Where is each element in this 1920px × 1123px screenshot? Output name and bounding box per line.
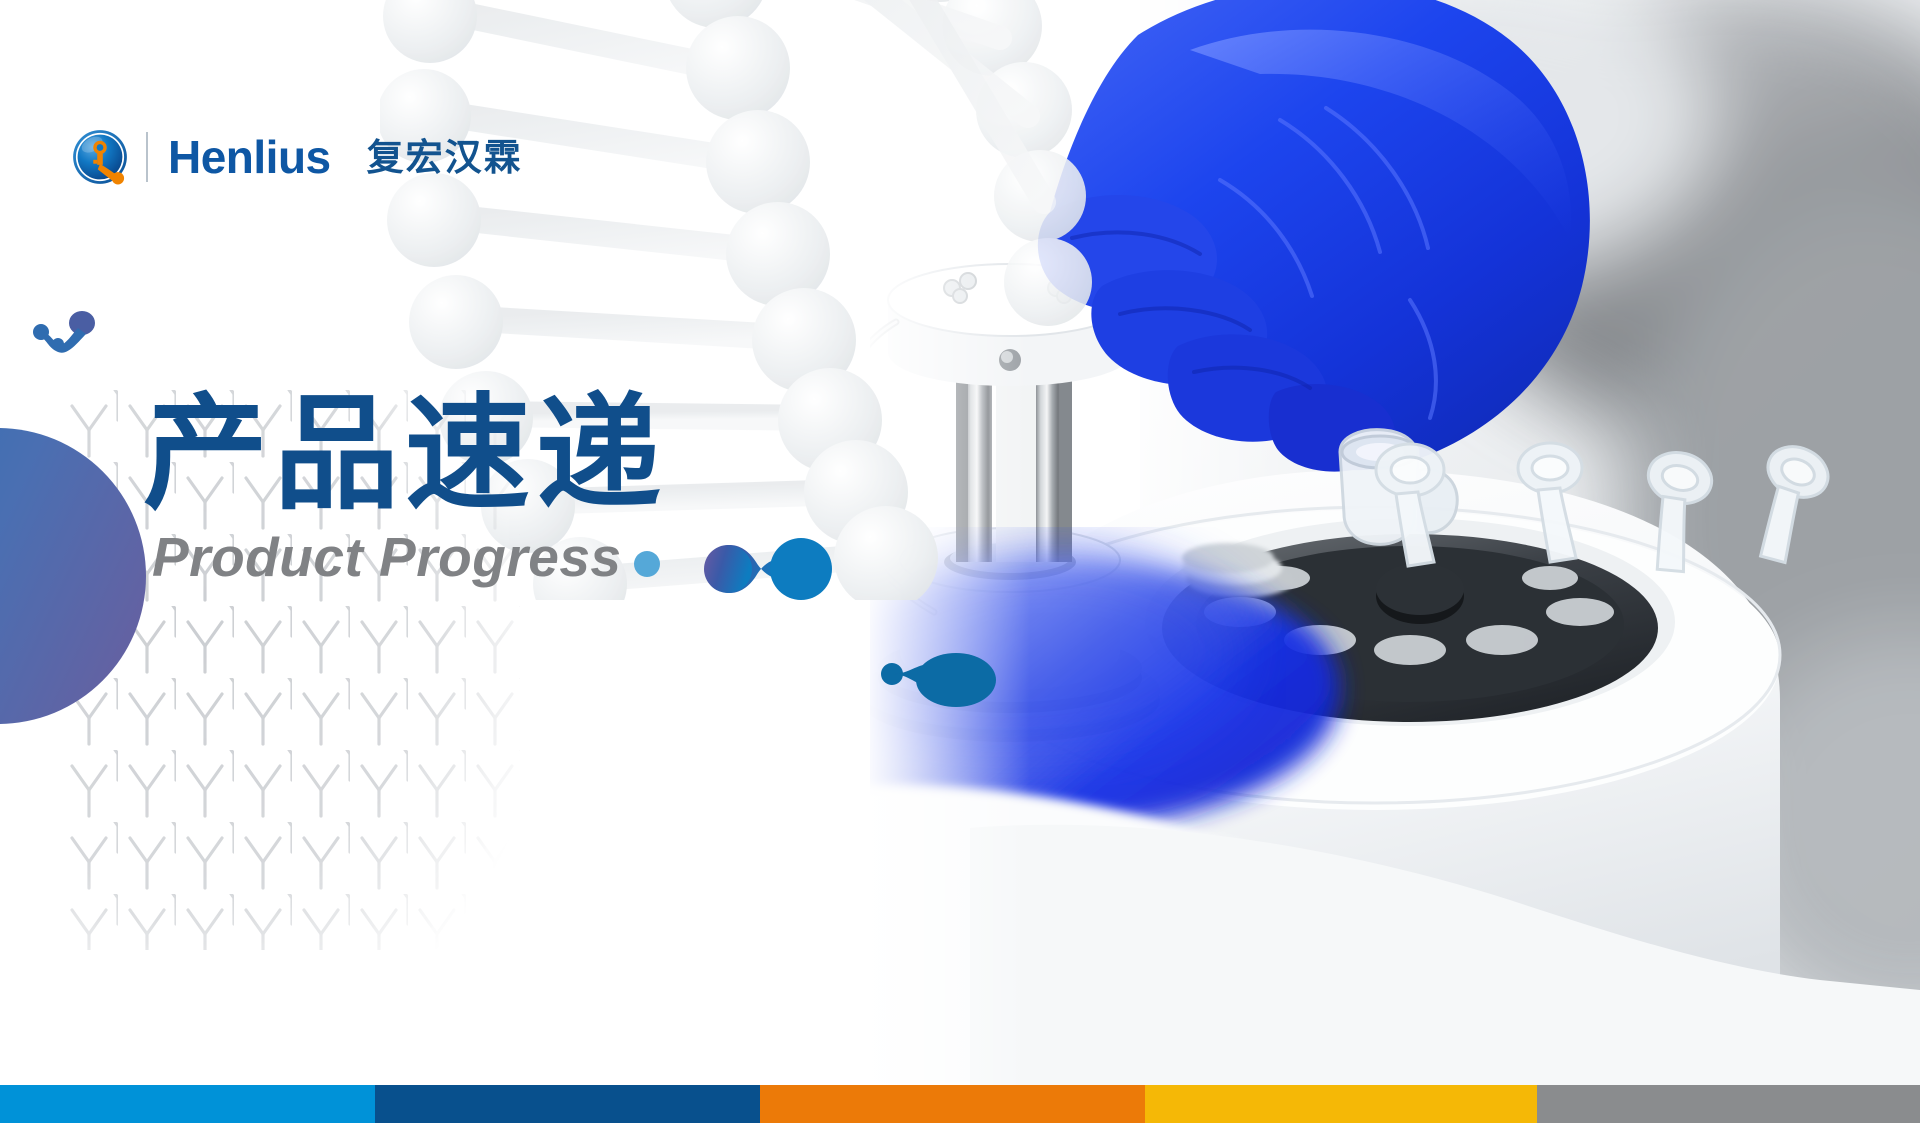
- page-title: 产品速递: [143, 382, 667, 527]
- brand-logo[interactable]: Henlius 复宏汉霖: [72, 120, 523, 194]
- logo-chinese-name: 复宏汉霖: [367, 139, 523, 176]
- slide-canvas: Henlius 复宏汉霖 产品速递 Product Progress: [0, 0, 1920, 1123]
- color-segment-orange: [760, 1085, 1145, 1123]
- molecule-link-icon: [700, 538, 840, 600]
- molecule-link-icon: [880, 652, 1010, 708]
- color-segment-gray: [1537, 1085, 1920, 1123]
- molecule-link-icon: [28, 310, 98, 360]
- henlius-molecule-circle-icon: [72, 129, 128, 185]
- color-segment-cyan: [0, 1085, 375, 1123]
- footer-color-bar: [0, 1085, 1920, 1123]
- gradient-circle-decor: [0, 428, 146, 724]
- logo-wordmark: Henlius: [168, 134, 331, 180]
- color-segment-gold: [1145, 1085, 1537, 1123]
- logo-divider: [146, 132, 148, 182]
- page-subtitle: Product Progress: [152, 524, 622, 590]
- lab-centrifuge-photo: [720, 0, 1920, 1085]
- color-segment-navy: [375, 1085, 760, 1123]
- dot-decor-icon: [634, 551, 660, 577]
